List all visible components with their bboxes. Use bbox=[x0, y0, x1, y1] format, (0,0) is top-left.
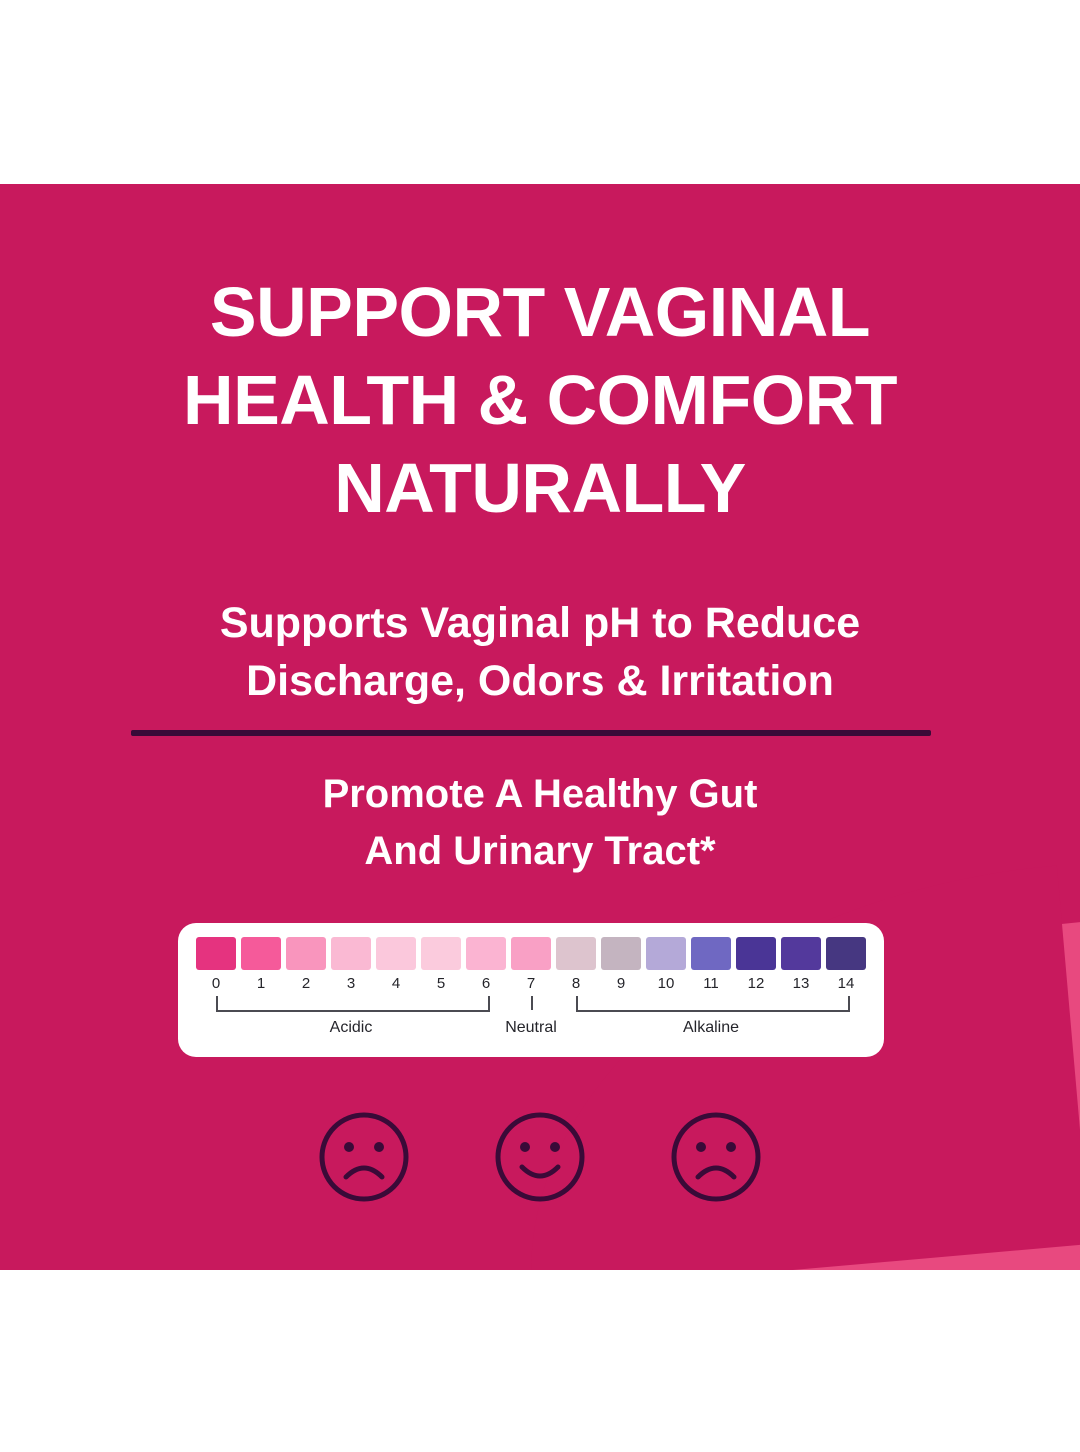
ph-number-6: 6 bbox=[466, 975, 506, 993]
ph-number-9: 9 bbox=[601, 975, 641, 993]
ph-number-2: 2 bbox=[286, 975, 326, 993]
subheadline-line-2: Discharge, Odors & Irritation bbox=[80, 652, 1000, 710]
ph-number-3: 3 bbox=[331, 975, 371, 993]
sad-face-icon bbox=[316, 1109, 412, 1205]
sad-face bbox=[316, 1109, 412, 1205]
ph-swatch-row bbox=[196, 937, 866, 970]
ph-swatch-9 bbox=[601, 937, 641, 970]
ph-region-label-row: AcidicNeutralAlkaline bbox=[196, 1018, 866, 1040]
ph-swatch-2 bbox=[286, 937, 326, 970]
claim-line-2: And Urinary Tract* bbox=[100, 823, 980, 880]
ph-swatch-0 bbox=[196, 937, 236, 970]
ph-swatch-14 bbox=[826, 937, 866, 970]
ph-bracket-acidic bbox=[216, 996, 490, 1012]
headline-line-2: HEALTH & COMFORT bbox=[60, 356, 1020, 444]
headline-line-3: NATURALLY bbox=[60, 444, 1020, 532]
ph-swatch-11 bbox=[691, 937, 731, 970]
ph-number-11: 11 bbox=[691, 975, 731, 993]
ph-swatch-10 bbox=[646, 937, 686, 970]
ph-tick-neutral bbox=[531, 996, 533, 1010]
ph-swatch-4 bbox=[376, 937, 416, 970]
ph-number-14: 14 bbox=[826, 975, 866, 993]
ph-number-5: 5 bbox=[421, 975, 461, 993]
subheadline: Supports Vaginal pH to Reduce Discharge,… bbox=[80, 594, 1000, 710]
ph-number-12: 12 bbox=[736, 975, 776, 993]
ph-swatch-8 bbox=[556, 937, 596, 970]
ph-swatch-6 bbox=[466, 937, 506, 970]
sad-face-icon bbox=[668, 1109, 764, 1205]
ph-swatch-3 bbox=[331, 937, 371, 970]
pink-panel: SUPPORT VAGINAL HEALTH & COMFORT NATURAL… bbox=[0, 184, 1080, 1270]
ph-label-alkaline: Alkaline bbox=[516, 1018, 906, 1038]
ph-swatch-13 bbox=[781, 937, 821, 970]
mood-face-row bbox=[0, 1109, 1080, 1205]
ph-bracket-alkaline bbox=[576, 996, 850, 1012]
sad-face bbox=[668, 1109, 764, 1205]
subheadline-line-1: Supports Vaginal pH to Reduce bbox=[80, 594, 1000, 652]
headline: SUPPORT VAGINAL HEALTH & COMFORT NATURAL… bbox=[60, 268, 1020, 532]
claim-line-1: Promote A Healthy Gut bbox=[100, 766, 980, 823]
headline-line-1: SUPPORT VAGINAL bbox=[60, 268, 1020, 356]
ph-number-8: 8 bbox=[556, 975, 596, 993]
ph-swatch-7 bbox=[511, 937, 551, 970]
ph-number-row: 01234567891011121314 bbox=[196, 975, 866, 993]
secondary-claim: Promote A Healthy Gut And Urinary Tract* bbox=[100, 766, 980, 880]
ph-swatch-1 bbox=[241, 937, 281, 970]
panel-content: SUPPORT VAGINAL HEALTH & COMFORT NATURAL… bbox=[0, 184, 1080, 1270]
ph-number-10: 10 bbox=[646, 975, 686, 993]
happy-face bbox=[492, 1109, 588, 1205]
ph-swatch-5 bbox=[421, 937, 461, 970]
ph-swatch-12 bbox=[736, 937, 776, 970]
ph-bracket-row bbox=[196, 994, 866, 1016]
ph-number-13: 13 bbox=[781, 975, 821, 993]
promo-banner: SUPPORT VAGINAL HEALTH & COMFORT NATURAL… bbox=[0, 0, 1080, 1452]
happy-face-icon bbox=[492, 1109, 588, 1205]
divider-rule bbox=[131, 730, 931, 736]
ph-number-0: 0 bbox=[196, 975, 236, 993]
ph-scale-card: 01234567891011121314 AcidicNeutralAlkali… bbox=[178, 923, 884, 1057]
ph-number-1: 1 bbox=[241, 975, 281, 993]
ph-number-7: 7 bbox=[511, 975, 551, 993]
ph-number-4: 4 bbox=[376, 975, 416, 993]
